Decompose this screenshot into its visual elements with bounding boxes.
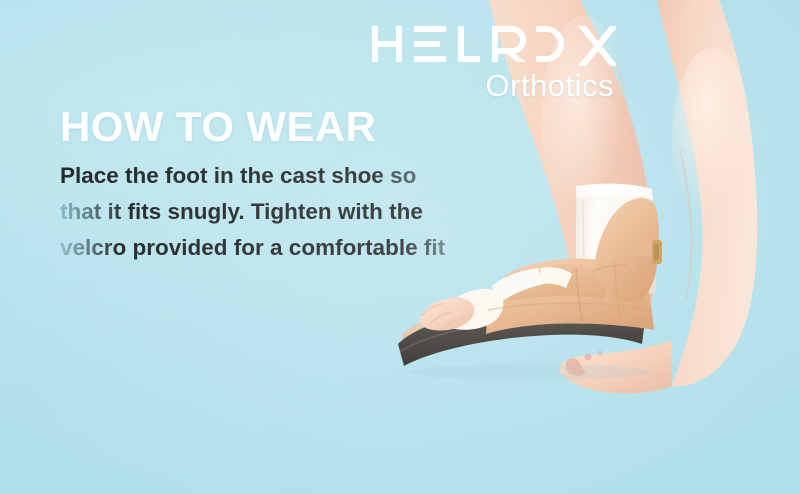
page-title: HOW TO WEAR <box>60 106 376 148</box>
logo-subtitle: Orthotics <box>360 70 616 101</box>
instruction-line-1: Place the foot in the cast shoe so <box>60 158 480 194</box>
poster-canvas: Orthotics HOW TO WEAR Place the foot in … <box>0 0 800 494</box>
instructions-block: Place the foot in the cast shoe so that … <box>60 158 480 266</box>
logo-wordmark-icon <box>372 22 616 66</box>
brand-logo: Orthotics <box>360 22 616 101</box>
instruction-line-3: velcro provided for a comfortable fit <box>60 230 480 266</box>
instruction-line-2: that it fits snugly. Tighten with the <box>60 194 480 230</box>
